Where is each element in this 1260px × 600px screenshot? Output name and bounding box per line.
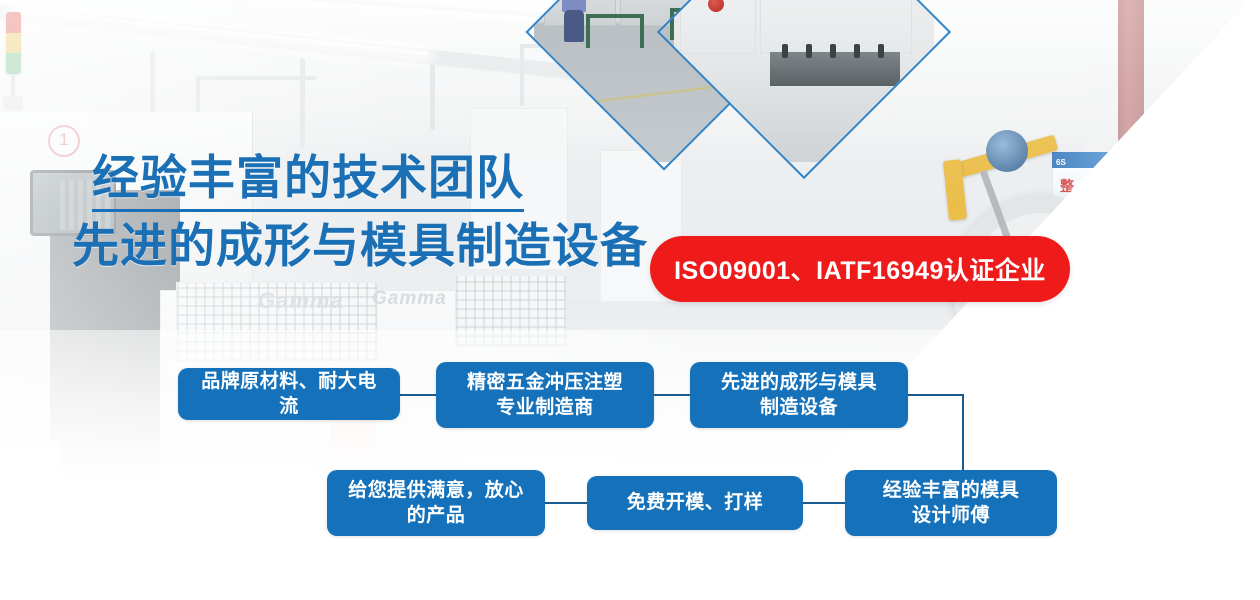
flow-box-satisfying-products-line-2: 的产品: [407, 503, 466, 528]
flow-box-experienced-designer-line-2: 设计师傅: [912, 503, 990, 528]
flow-box-free-mold-sample-line-1: 免费开模、打样: [627, 490, 764, 515]
connector-right-down: [962, 394, 964, 478]
flow-box-experienced-designer[interactable]: 经验丰富的模具 设计师傅: [845, 470, 1057, 536]
flow-box-brand-material-line-1: 品牌原材料、耐大电流: [192, 369, 386, 419]
connector-box2-box3: [652, 394, 692, 396]
flow-box-advanced-equipment-line-2: 制造设备: [760, 395, 838, 420]
flow-box-brand-material[interactable]: 品牌原材料、耐大电流: [178, 368, 400, 420]
connector-box4-box5: [545, 502, 589, 504]
flowchart: 品牌原材料、耐大电流 精密五金冲压注塑 专业制造商 先进的成形与模具 制造设备 …: [0, 0, 1260, 600]
flow-box-satisfying-products[interactable]: 给您提供满意，放心 的产品: [327, 470, 545, 536]
flow-box-precision-manufacturer-line-1: 精密五金冲压注塑: [467, 370, 623, 395]
flow-box-advanced-equipment-line-1: 先进的成形与模具: [721, 370, 877, 395]
connector-box3-right: [906, 394, 964, 396]
connector-box1-box2: [398, 394, 438, 396]
promo-banner: 1 Gamma Gamma 6S 整 顿 明确标识·方便取 必需品分区放置: [0, 0, 1260, 600]
flow-box-precision-manufacturer[interactable]: 精密五金冲压注塑 专业制造商: [436, 362, 654, 428]
flow-box-free-mold-sample[interactable]: 免费开模、打样: [587, 476, 803, 530]
flow-box-experienced-designer-line-1: 经验丰富的模具: [883, 478, 1020, 503]
flow-box-precision-manufacturer-line-2: 专业制造商: [496, 395, 594, 420]
flow-box-advanced-equipment[interactable]: 先进的成形与模具 制造设备: [690, 362, 908, 428]
flow-box-satisfying-products-line-1: 给您提供满意，放心: [348, 478, 524, 503]
connector-box5-box6: [803, 502, 847, 504]
